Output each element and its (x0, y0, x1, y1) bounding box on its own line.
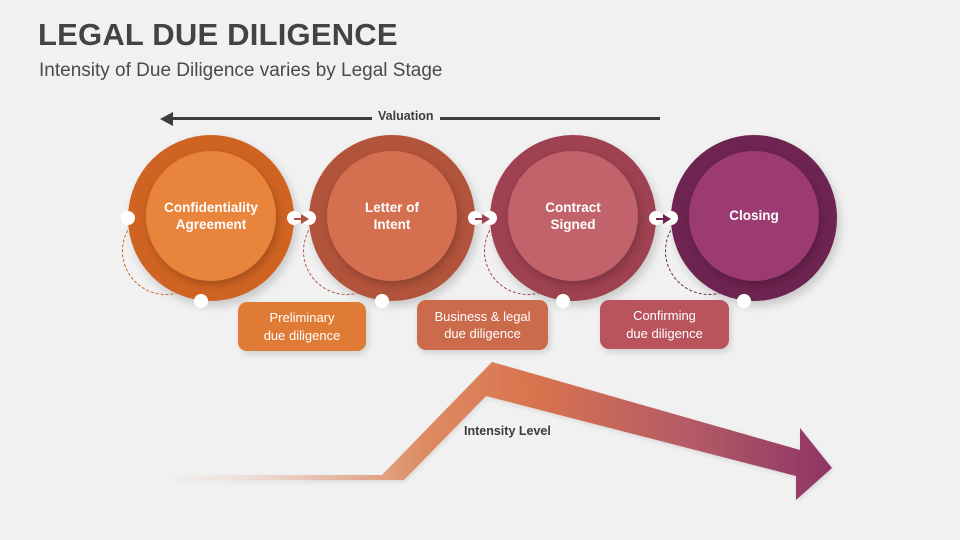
caption-line2: due diligence (626, 326, 703, 341)
stage-label-line1: Letter of (365, 200, 419, 215)
stage-confidentiality-agreement[interactable]: ConfidentialityAgreement (128, 135, 294, 301)
stage-connector-arrow-3 (656, 216, 671, 221)
caption-confirming-due-diligence[interactable]: Confirmingdue diligence (600, 300, 729, 349)
caption-preliminary-due-diligence[interactable]: Preliminarydue diligence (238, 302, 366, 351)
caption-business-legal-due-diligence[interactable]: Business & legaldue diligence (417, 300, 548, 350)
stage-dashed-arc (122, 207, 210, 295)
page-title: LEGAL DUE DILIGENCE (38, 17, 398, 53)
valuation-label: Valuation (372, 109, 440, 123)
slide-canvas: LEGAL DUE DILIGENCE Intensity of Due Dil… (0, 0, 960, 540)
stage-dashed-arc (665, 207, 753, 295)
stage-letter-of-intent[interactable]: Letter ofIntent (309, 135, 475, 301)
stage-node-dot-bottom (194, 294, 208, 308)
stage-node-dot-left (121, 211, 135, 225)
stage-node-dot-bottom (737, 294, 751, 308)
stage-connector-arrow-2 (475, 216, 490, 221)
connector-arrowhead-icon (663, 214, 671, 224)
caption-line1: Confirming (633, 308, 696, 323)
valuation-axis: Valuation (160, 106, 660, 130)
stage-connector-arrow-1 (294, 216, 309, 221)
intensity-level-label: Intensity Level (464, 424, 551, 438)
stage-dashed-arc (303, 207, 391, 295)
stage-contract-signed[interactable]: ContractSigned (490, 135, 656, 301)
caption-line1: Preliminary (269, 310, 334, 325)
stage-node-dot-bottom (375, 294, 389, 308)
page-subtitle: Intensity of Due Diligence varies by Leg… (39, 60, 442, 82)
stage-closing[interactable]: Closing (671, 135, 837, 301)
caption-line1: Business & legal (434, 309, 530, 324)
stage-dashed-arc (484, 207, 572, 295)
connector-arrowhead-icon (482, 214, 490, 224)
stage-node-dot-bottom (556, 294, 570, 308)
stage-label-line1: Contract (545, 200, 601, 215)
caption-line2: due diligence (444, 326, 521, 341)
connector-arrowhead-icon (301, 214, 309, 224)
caption-line2: due diligence (264, 328, 341, 343)
valuation-arrow-left-icon (160, 112, 173, 126)
